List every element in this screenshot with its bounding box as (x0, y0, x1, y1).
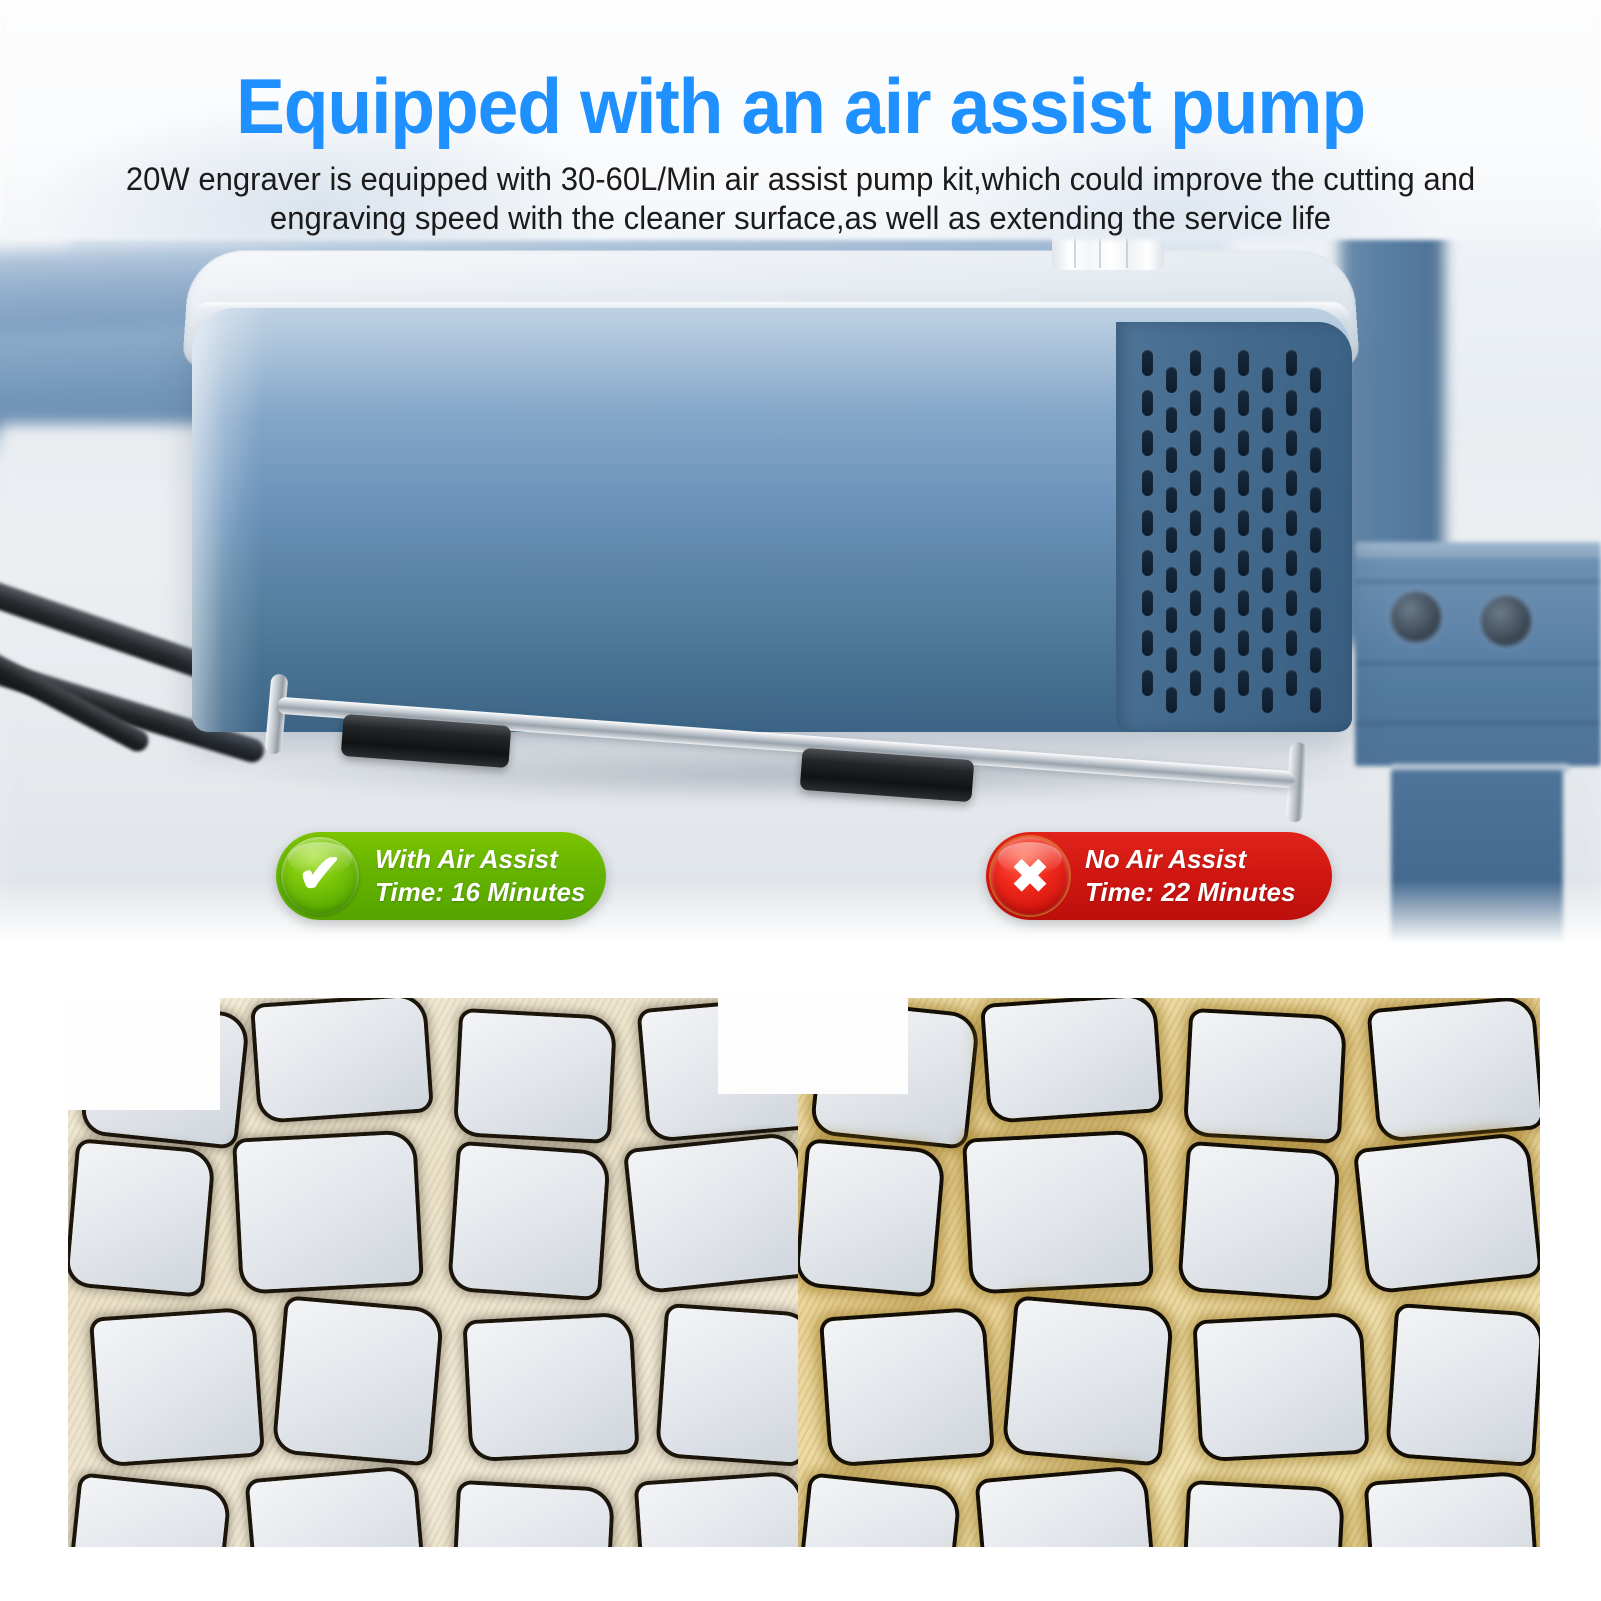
vent-hole (1142, 510, 1153, 536)
vent-hole (1310, 367, 1321, 393)
vent-hole (1262, 567, 1273, 593)
check-glyph: ✔ (297, 847, 342, 901)
cut-cell (93, 1311, 261, 1464)
vent-hole (1238, 510, 1249, 536)
module-groove-1 (1355, 580, 1601, 583)
vent-hole (1238, 470, 1249, 496)
vent-hole (1142, 630, 1153, 656)
cut-cell (236, 1133, 420, 1290)
vent-hole (1286, 430, 1297, 456)
vent-hole (1214, 447, 1225, 473)
vent-hole (1214, 607, 1225, 633)
cut-cell (1389, 1307, 1540, 1463)
scene-bottom-fade (0, 880, 1601, 970)
vent-hole (1214, 367, 1225, 393)
cut-cell (984, 998, 1159, 1120)
photo-white-corner-left (68, 998, 220, 1110)
badge-green-line2: Time: 16 Minutes (375, 876, 594, 909)
product-scene (0, 228, 1601, 958)
cut-cell (1187, 1012, 1343, 1140)
vent-hole (1238, 430, 1249, 456)
vent-hole (1262, 447, 1273, 473)
laser-module-body (1355, 558, 1601, 766)
vent-hole (1190, 590, 1201, 616)
vent-hole (1142, 470, 1153, 496)
cut-cell (249, 1469, 423, 1547)
vent-hole (1286, 590, 1297, 616)
cut-cell (254, 998, 429, 1120)
vent-hole (1286, 630, 1297, 656)
badge-text-red: No Air Assist Time: 22 Minutes (1069, 843, 1332, 909)
vent-hole (1310, 487, 1321, 513)
vent-hole (1190, 350, 1201, 376)
vent-hole (1286, 470, 1297, 496)
vent-hole (1142, 390, 1153, 416)
vent-hole (1238, 550, 1249, 576)
cut-cell (638, 1475, 798, 1547)
vent-hole (1142, 430, 1153, 456)
vent-hole (1214, 407, 1225, 433)
cut-cell (1197, 1316, 1366, 1458)
vent-hole (1190, 550, 1201, 576)
vent-hole (1238, 630, 1249, 656)
vent-hole (1166, 407, 1177, 433)
pump-metal-stand (246, 658, 1356, 828)
cross-icon: ✖ (991, 837, 1069, 915)
page-subtitle: 20W engraver is equipped with 30-60L/Min… (61, 160, 1540, 238)
vent-hole (1166, 527, 1177, 553)
cut-cell (68, 1143, 212, 1294)
badge-red-line1: No Air Assist (1085, 843, 1320, 876)
cut-cell (1006, 1300, 1170, 1463)
cut-cell (659, 1307, 798, 1463)
vent-hole (1142, 350, 1153, 376)
cut-quality-comparison-photo (68, 998, 1540, 1547)
cut-cell (798, 1143, 942, 1294)
header-section: Equipped with an air assist pump 20W eng… (0, 0, 1601, 240)
vent-hole (1142, 590, 1153, 616)
cut-cell (627, 1136, 798, 1291)
vent-hole (1286, 390, 1297, 416)
cut-cell (276, 1300, 440, 1463)
vent-hole (1214, 487, 1225, 513)
vent-hole (1214, 567, 1225, 593)
vent-hole (1310, 607, 1321, 633)
vent-hole (1262, 367, 1273, 393)
vent-hole (1190, 630, 1201, 656)
product-feature-page: Equipped with an air assist pump 20W eng… (0, 0, 1601, 1601)
badge-red-line2: Time: 22 Minutes (1085, 876, 1320, 909)
vent-hole (1166, 607, 1177, 633)
vent-hole (1286, 350, 1297, 376)
vent-hole (1166, 367, 1177, 393)
cut-cell (1371, 999, 1540, 1138)
cut-cell (451, 1145, 607, 1297)
vent-hole (1190, 510, 1201, 536)
vent-hole (1190, 390, 1201, 416)
module-screw-right (1481, 596, 1531, 646)
vent-hole (1238, 390, 1249, 416)
cut-cell (467, 1316, 636, 1458)
cut-cell (1185, 1484, 1341, 1547)
cut-cell (823, 1311, 991, 1464)
module-screw-left (1391, 592, 1441, 642)
vent-hole (1214, 527, 1225, 553)
module-groove-3 (1355, 722, 1601, 725)
vent-hole (1262, 487, 1273, 513)
vent-hole (1190, 470, 1201, 496)
vent-hole (1262, 407, 1273, 433)
vent-hole (1166, 567, 1177, 593)
vent-hole (1166, 447, 1177, 473)
badge-green-line1: With Air Assist (375, 843, 594, 876)
vent-hole (1310, 447, 1321, 473)
check-icon: ✔ (281, 837, 359, 915)
badge-with-air-assist: ✔ With Air Assist Time: 16 Minutes (276, 832, 606, 920)
vent-hole (1238, 350, 1249, 376)
vent-hole (1262, 527, 1273, 553)
photo-white-corner-right (718, 998, 908, 1094)
badge-no-air-assist: ✖ No Air Assist Time: 22 Minutes (986, 832, 1332, 920)
vent-hole (1310, 527, 1321, 553)
badge-text-green: With Air Assist Time: 16 Minutes (359, 843, 606, 909)
cut-cell (1368, 1475, 1536, 1547)
module-groove-2 (1355, 662, 1601, 665)
page-title: Equipped with an air assist pump (48, 62, 1553, 150)
vent-hole (1286, 550, 1297, 576)
vent-hole (1166, 487, 1177, 513)
cut-cell (1181, 1145, 1337, 1297)
photo-half-scorched (798, 998, 1540, 1547)
vent-hole (1262, 607, 1273, 633)
cross-glyph: ✖ (1011, 853, 1050, 899)
vent-hole (1190, 430, 1201, 456)
vent-hole (1238, 590, 1249, 616)
vent-hole (1310, 407, 1321, 433)
laser-module-right (1355, 558, 1601, 798)
vent-hole (1310, 567, 1321, 593)
cut-cell (457, 1012, 613, 1140)
cut-cell (966, 1133, 1150, 1290)
vent-hole (1286, 510, 1297, 536)
cut-cell (979, 1469, 1153, 1547)
vent-hole (1142, 550, 1153, 576)
cut-cell (1357, 1136, 1539, 1291)
cut-cell (455, 1484, 611, 1547)
